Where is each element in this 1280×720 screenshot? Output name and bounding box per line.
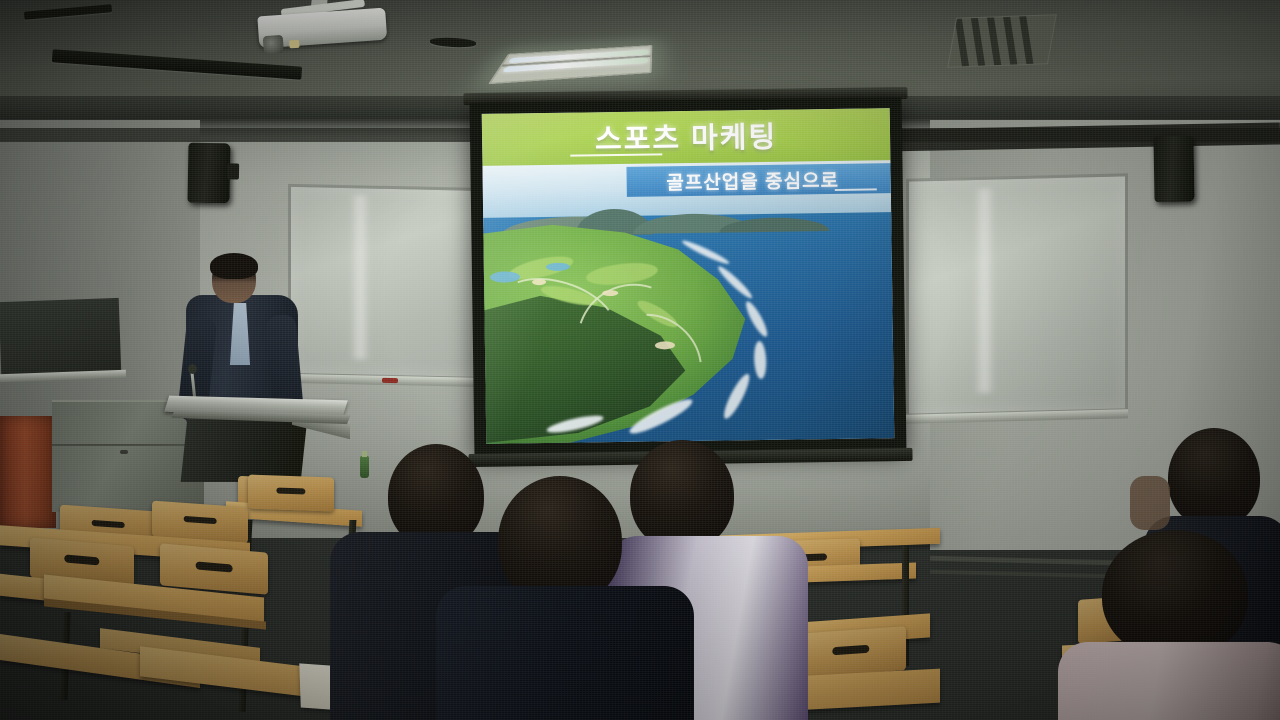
whiteboard-glare — [350, 196, 370, 360]
lecture-hall-photo: 스포츠 마케팅 골프산업을 중심으로 — [0, 0, 1280, 720]
microphone-icon — [188, 364, 197, 374]
ceiling-projector — [256, 0, 389, 52]
chair — [796, 626, 906, 678]
student-torso — [436, 586, 694, 720]
speaker-bracket — [227, 164, 239, 180]
projector-knob — [289, 40, 300, 49]
chair-handle-hole — [276, 488, 305, 495]
presenter-hair — [210, 253, 258, 279]
projection-screen: 스포츠 마케팅 골프산업을 중심으로 — [470, 97, 907, 455]
wall-speaker-left — [187, 143, 230, 204]
chair-handle-hole — [92, 520, 125, 529]
whiteboard-glare — [974, 189, 996, 394]
window-panel — [0, 298, 121, 376]
cabinet-handle-icon — [120, 450, 128, 454]
presentation-slide: 스포츠 마케팅 골프산업을 중심으로 — [482, 108, 895, 444]
slide-subtitle: 골프산업을 중심으로 — [622, 165, 882, 196]
student-head — [1102, 530, 1248, 658]
slide-title: 스포츠 마케팅 — [482, 112, 891, 160]
student-front-center — [436, 476, 686, 720]
lectern-body — [181, 418, 308, 482]
projector-body — [257, 8, 387, 49]
student-shirt — [1058, 642, 1280, 720]
student-hand — [1130, 476, 1170, 530]
wall-speaker-right — [1153, 136, 1194, 203]
whiteboard-right — [906, 173, 1128, 416]
chair — [160, 543, 268, 594]
marker-icon — [382, 378, 398, 383]
air-vent — [947, 14, 1057, 67]
whiteboard-left — [288, 184, 492, 380]
chair — [248, 474, 334, 511]
chair-handle-hole — [184, 516, 217, 525]
cabinet-orange — [0, 416, 56, 528]
chair-handle-hole — [832, 645, 869, 656]
student-head — [1168, 428, 1260, 528]
projector-lens-icon — [263, 35, 284, 54]
student-right-front — [1058, 530, 1280, 720]
chair-handle-hole — [196, 562, 233, 573]
lectern — [166, 398, 352, 484]
chair-handle-hole — [64, 555, 99, 565]
